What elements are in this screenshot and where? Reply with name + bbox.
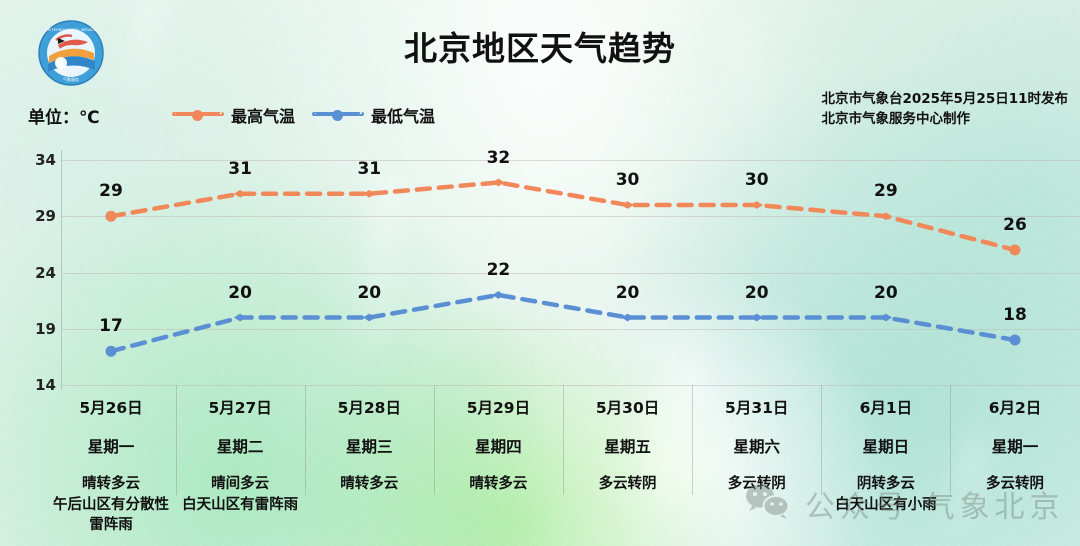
data-point-marker <box>363 190 375 198</box>
day-date: 5月26日 <box>46 396 175 418</box>
data-label: 31 <box>357 159 381 179</box>
wechat-icon <box>745 483 791 526</box>
data-label: 29 <box>874 181 898 201</box>
day-column-3: 5月28日星期三晴转多云 <box>305 396 434 495</box>
day-weekday: 星期五 <box>563 435 692 457</box>
day-column-5: 5月30日星期五多云转阴 <box>563 396 692 495</box>
day-date: 6月2日 <box>950 396 1079 418</box>
day-date: 5月27日 <box>176 396 305 418</box>
data-point-marker <box>234 190 246 198</box>
day-weekday: 星期四 <box>434 435 563 457</box>
day-description: 晴转多云 午后山区有分散性 雷阵雨 <box>46 474 175 536</box>
watermark: 公众号·气象北京 <box>745 482 1065 526</box>
data-label: 17 <box>99 316 123 336</box>
day-weekday: 星期日 <box>821 435 950 457</box>
day-date: 5月29日 <box>434 396 563 418</box>
day-column-4: 5月29日星期四晴转多云 <box>434 396 563 495</box>
data-label: 26 <box>1003 215 1027 235</box>
data-point-marker <box>1010 335 1021 346</box>
day-column-8: 6月2日星期一多云转阴 <box>950 396 1079 495</box>
day-weekday: 星期一 <box>950 435 1079 457</box>
day-date: 5月28日 <box>305 396 434 418</box>
day-date: 5月31日 <box>692 396 821 418</box>
day-weekday: 星期一 <box>46 435 175 457</box>
data-point-marker <box>234 314 246 322</box>
day-description: 晴间多云 白天山区有雷阵雨 <box>176 474 305 515</box>
data-point-marker <box>492 179 504 187</box>
data-point-marker <box>751 314 763 322</box>
series-line-low <box>111 295 1015 351</box>
day-description: 晴转多云 <box>434 474 563 495</box>
data-point-marker <box>751 201 763 209</box>
data-point-marker <box>880 314 892 322</box>
data-label: 20 <box>745 283 769 303</box>
day-date: 5月30日 <box>563 396 692 418</box>
day-weekday: 星期六 <box>692 435 821 457</box>
data-label: 30 <box>616 170 640 190</box>
day-weekday: 星期二 <box>176 435 305 457</box>
data-label: 20 <box>228 283 252 303</box>
data-point-marker <box>106 211 117 222</box>
day-description: 晴转多云 <box>305 474 434 495</box>
day-column-2: 5月27日星期二晴间多云 白天山区有雷阵雨 <box>176 396 305 515</box>
data-point-marker <box>1010 245 1021 256</box>
data-label: 18 <box>1003 305 1027 325</box>
watermark-text: 公众号·气象北京 <box>805 482 1065 526</box>
data-point-marker <box>106 346 117 357</box>
data-label: 31 <box>228 159 252 179</box>
data-label: 30 <box>745 170 769 190</box>
day-description: 多云转阴 <box>563 474 692 495</box>
data-label: 32 <box>487 148 511 168</box>
day-weekday: 星期三 <box>305 435 434 457</box>
data-label: 20 <box>357 283 381 303</box>
day-date: 6月1日 <box>821 396 950 418</box>
data-label: 22 <box>487 260 511 280</box>
data-label: 20 <box>874 283 898 303</box>
day-column-1: 5月26日星期一晴转多云 午后山区有分散性 雷阵雨 <box>46 396 175 536</box>
day-column-6: 5月31日星期六多云转阴 <box>692 396 821 495</box>
data-label: 20 <box>616 283 640 303</box>
data-label: 29 <box>99 181 123 201</box>
